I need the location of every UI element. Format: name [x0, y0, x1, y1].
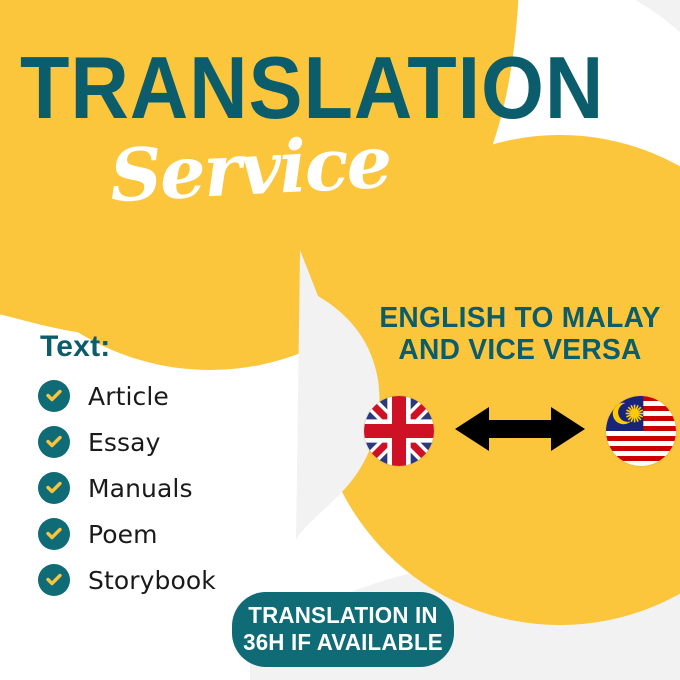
list-item-label: Storybook — [88, 566, 216, 595]
list-item: Essay — [38, 426, 338, 458]
check-circle-icon — [38, 518, 70, 550]
translation-service-poster: TRANSLATION Service Text: Article Essay — [0, 0, 680, 680]
list-item: Manuals — [38, 472, 338, 504]
list-item-label: Poem — [88, 520, 158, 549]
malaysia-flag-icon — [606, 396, 676, 466]
check-circle-icon — [38, 426, 70, 458]
text-types-heading: Text: — [40, 330, 338, 364]
yellow-blob-right-circle — [315, 135, 680, 625]
list-item: Poem — [38, 518, 338, 550]
check-circle-icon — [38, 380, 70, 412]
united-kingdom-flag-icon — [364, 396, 434, 466]
language-pair-line-2: AND VICE VERSA — [365, 334, 675, 366]
list-item-label: Essay — [88, 428, 160, 457]
language-pair-line-1: ENGLISH TO MALAY — [365, 302, 675, 334]
language-direction-row — [360, 383, 680, 479]
title-block: TRANSLATION Service — [0, 48, 500, 205]
delivery-time-badge: TRANSLATION IN 36H IF AVAILABLE — [232, 592, 454, 667]
text-types-list: Text: Article Essay Manua — [38, 330, 338, 610]
check-circle-icon — [38, 472, 70, 504]
list-item-label: Manuals — [88, 474, 193, 503]
list-item: Article — [38, 380, 338, 412]
page-title: TRANSLATION — [20, 48, 480, 129]
check-circle-icon — [38, 564, 70, 596]
double-arrow-icon — [455, 403, 585, 460]
delivery-badge-line-1: TRANSLATION IN — [235, 602, 450, 629]
list-item-label: Article — [88, 382, 169, 411]
delivery-badge-line-2: 36H IF AVAILABLE — [235, 629, 450, 656]
language-pair-heading: ENGLISH TO MALAY AND VICE VERSA — [360, 302, 680, 367]
